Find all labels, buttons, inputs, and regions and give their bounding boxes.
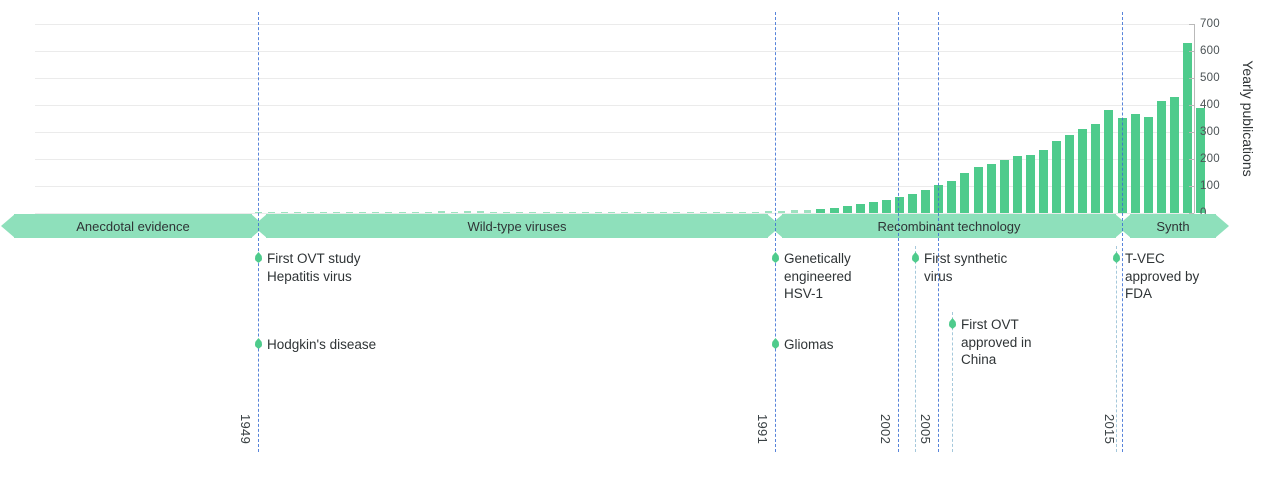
bar xyxy=(1026,155,1035,213)
annotation-text: Hodgkin's disease xyxy=(267,336,376,354)
annotation-hodgkins-disease[interactable]: Hodgkin's disease xyxy=(255,336,376,354)
bar xyxy=(529,212,536,213)
bar xyxy=(281,212,288,213)
y-tick-mark xyxy=(1189,51,1194,52)
y-tick-mark xyxy=(1189,78,1194,79)
bar xyxy=(543,212,550,213)
era-band-label: Anecdotal evidence xyxy=(76,219,189,234)
bar xyxy=(595,212,602,213)
annotation-text: First synthetic virus xyxy=(924,250,1007,285)
annotation-text: Gliomas xyxy=(784,336,834,354)
bar xyxy=(791,210,798,213)
bar xyxy=(647,212,654,213)
y-tick-mark xyxy=(1189,105,1194,106)
bar xyxy=(268,212,275,213)
bar xyxy=(1013,156,1022,213)
bar xyxy=(765,211,772,213)
bar xyxy=(713,212,720,213)
bar xyxy=(621,212,628,213)
bar xyxy=(804,210,811,213)
bar xyxy=(1000,160,1009,213)
bar xyxy=(974,167,983,213)
bar xyxy=(752,212,759,213)
bar xyxy=(1131,114,1140,213)
bar xyxy=(608,212,615,213)
annotation-first-ovt-china[interactable]: First OVT approved in China xyxy=(949,316,1032,369)
era-band-synthetic[interactable]: Synth xyxy=(1130,214,1216,238)
era-arrow-left-icon xyxy=(1,214,15,238)
bar xyxy=(1170,97,1179,213)
annotation-text: Genetically engineered HSV-1 xyxy=(784,250,852,303)
bar xyxy=(569,212,576,213)
bar xyxy=(490,212,497,213)
y-tick-label: 700 xyxy=(1200,18,1220,30)
bar xyxy=(359,212,366,213)
bar xyxy=(687,212,694,213)
bar xyxy=(333,212,340,213)
bar xyxy=(556,212,563,213)
bar xyxy=(882,200,891,213)
year-label-1991: 1991 xyxy=(755,414,770,444)
bar xyxy=(921,190,930,213)
bar xyxy=(947,181,956,213)
annotation-genetically-engineered[interactable]: Genetically engineered HSV-1 xyxy=(772,250,852,303)
bar xyxy=(307,212,314,213)
bar xyxy=(320,212,327,213)
y-tick-label: 100 xyxy=(1200,180,1220,192)
bar xyxy=(412,212,419,213)
era-band-wildtype[interactable]: Wild-type viruses xyxy=(266,214,768,238)
bar xyxy=(425,212,432,213)
bar xyxy=(908,194,917,213)
bar xyxy=(516,212,523,213)
era-band-label: Synth xyxy=(1156,219,1189,234)
annotation-marker-icon xyxy=(772,338,779,349)
annotation-marker-icon xyxy=(1113,252,1120,263)
annotation-marker-icon xyxy=(255,338,262,349)
bar xyxy=(385,212,392,213)
y-tick-mark xyxy=(1189,24,1194,25)
annotation-gliomas[interactable]: Gliomas xyxy=(772,336,834,354)
y-axis-label-text: Yearly publications xyxy=(1237,60,1259,176)
bar xyxy=(1157,101,1166,213)
bar xyxy=(464,211,471,213)
bar xyxy=(1183,43,1192,213)
era-arrow-right-icon xyxy=(1215,214,1229,238)
annotation-text: T-VEC approved by FDA xyxy=(1125,250,1199,303)
year-marker-line-2015 xyxy=(1122,12,1123,452)
era-band-label: Wild-type viruses xyxy=(468,219,567,234)
bar xyxy=(294,212,301,213)
annotation-marker-icon xyxy=(912,252,919,263)
year-label-1949: 1949 xyxy=(238,414,253,444)
bar xyxy=(582,212,589,213)
bar xyxy=(816,209,825,213)
bar-series xyxy=(35,24,1195,213)
y-tick-mark xyxy=(1189,159,1194,160)
bar xyxy=(673,212,680,213)
bar xyxy=(960,173,969,213)
bar xyxy=(503,212,510,213)
bar xyxy=(830,208,839,213)
bar xyxy=(895,197,904,213)
bar xyxy=(869,202,878,213)
bar xyxy=(660,212,667,213)
era-band-recombinant[interactable]: Recombinant technology xyxy=(782,214,1116,238)
year-label-2005: 2005 xyxy=(918,414,933,444)
year-marker-line-1949 xyxy=(258,12,259,452)
annotation-marker-icon xyxy=(772,252,779,263)
era-band-label: Recombinant technology xyxy=(877,219,1020,234)
bar xyxy=(451,212,458,213)
bar xyxy=(634,212,641,213)
bar xyxy=(726,212,733,213)
annotation-tvec-fda[interactable]: T-VEC approved by FDA xyxy=(1113,250,1199,303)
bar xyxy=(1104,110,1113,213)
y-axis-label: Yearly publications xyxy=(1237,24,1259,213)
year-label-2002: 2002 xyxy=(878,414,893,444)
y-tick-label: 300 xyxy=(1200,126,1220,138)
bar xyxy=(1065,135,1074,213)
annotation-first-synthetic-virus[interactable]: First synthetic virus xyxy=(912,250,1007,285)
year-marker-line-1991 xyxy=(775,12,776,452)
annotation-marker-icon xyxy=(949,318,956,329)
year-label-2015: 2015 xyxy=(1102,414,1117,444)
annotation-text: First OVT study Hepatitis virus xyxy=(267,250,361,285)
bar xyxy=(739,212,746,213)
bar xyxy=(843,206,852,213)
bar xyxy=(700,212,707,213)
bar xyxy=(778,211,785,213)
bar xyxy=(372,212,379,213)
era-band-anecdotal[interactable]: Anecdotal evidence xyxy=(14,214,252,238)
y-tick-mark xyxy=(1189,132,1194,133)
bar xyxy=(1039,150,1048,213)
bar xyxy=(856,204,865,213)
y-axis-line xyxy=(1194,24,1195,213)
y-tick-label: 400 xyxy=(1200,99,1220,111)
bar xyxy=(346,212,353,213)
bar xyxy=(1144,117,1153,213)
y-tick-label: 200 xyxy=(1200,153,1220,165)
annotation-text: First OVT approved in China xyxy=(961,316,1032,369)
y-tick-mark xyxy=(1189,186,1194,187)
bar xyxy=(399,212,406,213)
bar xyxy=(438,211,445,213)
bar xyxy=(1078,129,1087,213)
annotation-first-ovt-study[interactable]: First OVT study Hepatitis virus xyxy=(255,250,361,285)
era-bands: Anecdotal evidenceWild-type virusesRecom… xyxy=(0,214,1280,238)
annotation-marker-icon xyxy=(255,252,262,263)
y-tick-label: 500 xyxy=(1200,72,1220,84)
timeline-chart: 7006005004003002001000 Yearly publicatio… xyxy=(0,0,1280,486)
bar xyxy=(1052,141,1061,213)
bar xyxy=(1091,124,1100,213)
bar xyxy=(477,211,484,213)
bar xyxy=(987,164,996,213)
y-tick-label: 600 xyxy=(1200,45,1220,57)
